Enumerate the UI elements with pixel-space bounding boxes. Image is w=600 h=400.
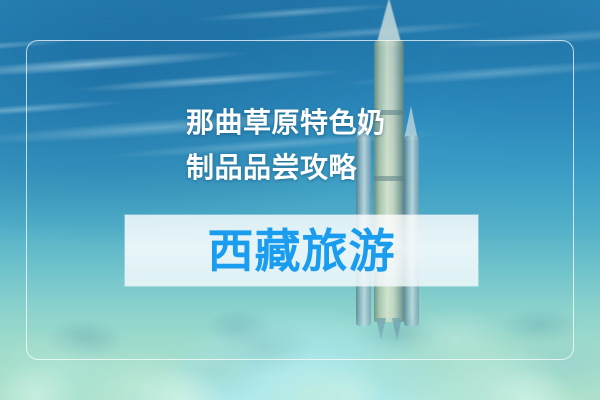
brand-label: 西藏旅游 [125,215,478,286]
smoke-highlight-layer [0,280,600,400]
travel-banner: 那曲草原特色奶 制品品尝攻略 西藏旅游 [0,0,600,400]
page-title: 那曲草原特色奶 制品品尝攻略 [186,100,486,190]
